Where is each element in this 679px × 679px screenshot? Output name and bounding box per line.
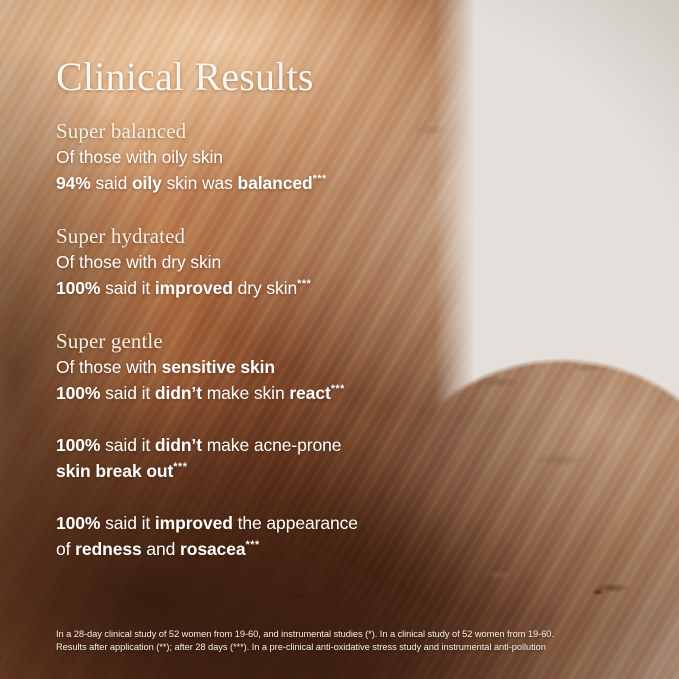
claim-text: said it [100, 513, 155, 533]
footnote-asterisk-marker: *** [173, 461, 187, 473]
claim-line: 100% said it improved dry skin*** [56, 276, 616, 302]
claim-text: make skin [202, 383, 289, 403]
claim-emphasis: rosacea [180, 539, 245, 559]
claim-text: of [56, 539, 75, 559]
footnote-asterisk-marker: *** [246, 539, 260, 551]
claim-text: skin was [162, 173, 238, 193]
footnote-disclaimer: In a 28-day clinical study of 52 women f… [56, 628, 646, 654]
claim-emphasis: improved [155, 513, 233, 533]
claim-emphasis: react [289, 383, 330, 403]
claim-text: said it [100, 435, 155, 455]
footnote-asterisk-marker: *** [297, 278, 311, 290]
claim-emphasis: 94% [56, 173, 91, 193]
claim-text: dry skin [233, 278, 297, 298]
claim-line: 100% said it improved the appearance [56, 511, 616, 537]
footnote-line-2: Results after application (**); after 28… [56, 641, 646, 654]
claim-emphasis: sensitive skin [162, 357, 275, 377]
claim-text: Of those with oily skin [56, 147, 223, 167]
claim-line: Of those with dry skin [56, 250, 616, 276]
claim-heading: Super gentle [56, 328, 616, 355]
claim-emphasis: oily [132, 173, 162, 193]
claim-emphasis: redness [75, 539, 141, 559]
claim-emphasis: skin break out [56, 461, 173, 481]
claim-emphasis: 100% [56, 513, 100, 533]
claim-line: skin break out*** [56, 459, 616, 485]
claim-text: said it [100, 383, 155, 403]
claims-list: Super balancedOf those with oily skin94%… [56, 118, 616, 589]
claim-emphasis: 100% [56, 278, 100, 298]
claim-line: Of those with sensitive skin [56, 355, 616, 381]
footnote-line-1: In a 28-day clinical study of 52 women f… [56, 628, 646, 641]
claim-emphasis: improved [155, 278, 233, 298]
claim-line: of redness and rosacea*** [56, 537, 616, 563]
claim-block: 100% said it improved the appearanceof r… [56, 511, 616, 562]
footnote-asterisk-marker: *** [313, 173, 327, 185]
claim-block: Super hydratedOf those with dry skin100%… [56, 223, 616, 301]
claim-line: Of those with oily skin [56, 145, 616, 171]
claim-text: said it [100, 278, 155, 298]
content-column: Clinical Results Super balancedOf those … [56, 0, 656, 679]
claim-text: the appearance [233, 513, 358, 533]
claim-line: 94% said oily skin was balanced*** [56, 171, 616, 197]
claim-text: said [91, 173, 132, 193]
claim-text: Of those with dry skin [56, 252, 221, 272]
claim-emphasis: didn’t [155, 383, 202, 403]
claim-block: Super gentleOf those with sensitive skin… [56, 328, 616, 406]
claim-block: 100% said it didn’t make acne-proneskin … [56, 433, 616, 484]
claim-emphasis: 100% [56, 383, 100, 403]
claim-emphasis: balanced [238, 173, 313, 193]
claim-block: Super balancedOf those with oily skin94%… [56, 118, 616, 196]
claim-text: and [142, 539, 180, 559]
clinical-results-card: Clinical Results Super balancedOf those … [0, 0, 679, 679]
claim-heading: Super hydrated [56, 223, 616, 250]
footnote-asterisk-marker: *** [331, 383, 345, 395]
claim-line: 100% said it didn’t make acne-prone [56, 433, 616, 459]
claim-heading: Super balanced [56, 118, 616, 145]
claim-text: make acne-prone [202, 435, 341, 455]
claim-text: Of those with [56, 357, 162, 377]
page-title: Clinical Results [56, 53, 314, 101]
claim-line: 100% said it didn’t make skin react*** [56, 381, 616, 407]
claim-emphasis: 100% [56, 435, 100, 455]
claim-emphasis: didn’t [155, 435, 202, 455]
